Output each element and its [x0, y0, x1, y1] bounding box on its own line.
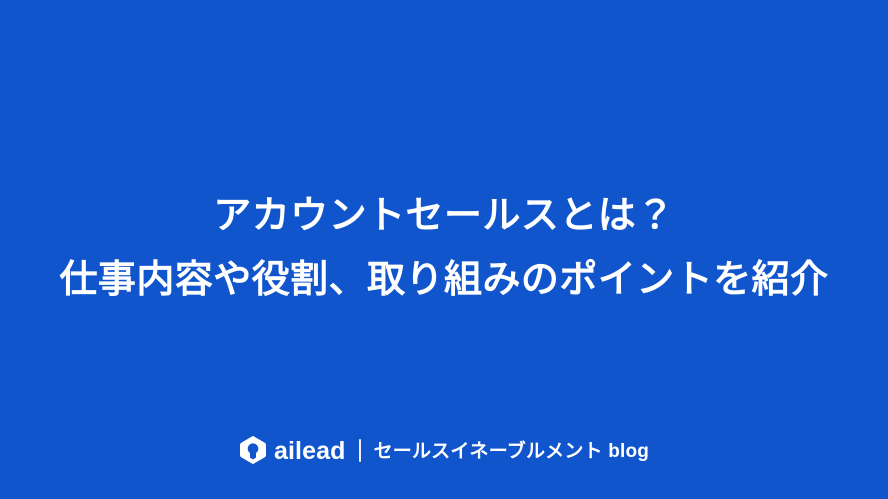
- page-title-line-1: アカウントセールスとは？: [0, 184, 888, 248]
- brand-divider: [359, 439, 361, 462]
- brand-lockup: ailead セールスイネーブルメント blog: [0, 435, 888, 465]
- page-title: アカウントセールスとは？ 仕事内容や役割、取り組みのポイントを紹介: [0, 184, 888, 312]
- brand-tagline: セールスイネーブルメント blog: [374, 442, 649, 461]
- ogp-card: アカウントセールスとは？ 仕事内容や役割、取り組みのポイントを紹介 ailead…: [0, 0, 888, 499]
- page-title-line-2: 仕事内容や役割、取り組みのポイントを紹介: [0, 248, 888, 312]
- ailead-hexagon-logo-icon: [239, 435, 267, 465]
- brand-wordmark: ailead: [274, 439, 346, 464]
